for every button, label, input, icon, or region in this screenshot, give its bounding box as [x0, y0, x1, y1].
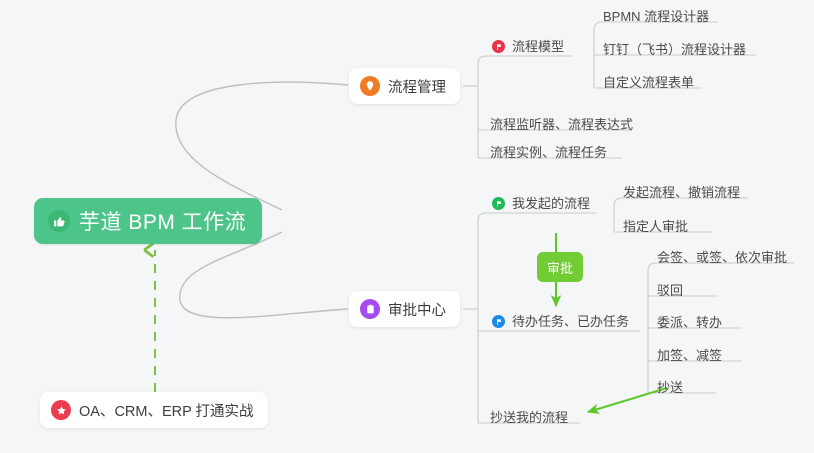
node-label: 流程实例、流程任务 — [490, 146, 607, 159]
node-bpmn-designer[interactable]: BPMN 流程设计器 — [601, 0, 716, 26]
node-cc-to-me-process[interactable]: 抄送我的流程 — [488, 400, 575, 427]
node-delegate-transfer[interactable]: 委派、转办 — [655, 305, 729, 332]
branch-label: 审批中心 — [388, 299, 446, 320]
node-process-model[interactable]: 流程模型 — [490, 29, 571, 56]
node-label: 抄送我的流程 — [490, 411, 568, 424]
node-label: 待办任务、已办任务 — [512, 315, 629, 328]
clipboard-icon — [360, 299, 380, 319]
node-label: 发起流程、撤销流程 — [623, 186, 740, 199]
node-label: 委派、转办 — [657, 316, 722, 329]
node-label: 钉钉（飞书）流程设计器 — [603, 43, 746, 56]
node-process-instance-task[interactable]: 流程实例、流程任务 — [488, 135, 614, 162]
node-label: 加签、减签 — [657, 349, 722, 362]
node-label: 会签、或签、依次审批 — [657, 251, 787, 264]
node-add-remove-sign[interactable]: 加签、减签 — [655, 338, 729, 365]
node-label: 流程监听器、流程表达式 — [490, 118, 633, 131]
footnote-node[interactable]: OA、CRM、ERP 打通实战 — [40, 392, 268, 428]
node-designated-approver[interactable]: 指定人审批 — [621, 209, 695, 236]
branch-node-approval-center[interactable]: 审批中心 — [349, 291, 460, 327]
flag-icon — [492, 197, 505, 210]
mindmap-canvas: 芋道 BPM 工作流 流程管理 流程模型 BPMN 流程设计器 钉钉（飞书）流程… — [0, 0, 814, 453]
flag-icon — [492, 315, 505, 328]
link-pm-spine — [478, 56, 486, 158]
node-cc[interactable]: 抄送 — [655, 370, 690, 397]
link-root-to-approval-center — [180, 232, 348, 318]
branch-label: 流程管理 — [388, 76, 446, 97]
node-label: 流程模型 — [512, 40, 564, 53]
node-start-cancel-process[interactable]: 发起流程、撤销流程 — [621, 175, 747, 202]
node-label: 抄送 — [657, 381, 683, 394]
root-label: 芋道 BPM 工作流 — [79, 206, 246, 236]
node-label: 指定人审批 — [623, 220, 688, 233]
flag-icon — [492, 40, 505, 53]
node-countersign-orsign-sequential[interactable]: 会签、或签、依次审批 — [655, 240, 794, 267]
node-reject[interactable]: 驳回 — [655, 273, 690, 300]
node-my-initiated-process[interactable]: 我发起的流程 — [490, 186, 597, 213]
node-label: 我发起的流程 — [512, 197, 590, 210]
location-pin-icon — [360, 76, 380, 96]
node-label: 驳回 — [657, 284, 683, 297]
thumbs-up-icon — [48, 210, 70, 232]
branch-node-process-management[interactable]: 流程管理 — [349, 68, 460, 104]
node-custom-process-form[interactable]: 自定义流程表单 — [601, 65, 701, 92]
root-node[interactable]: 芋道 BPM 工作流 — [34, 198, 262, 244]
node-process-listener-expression[interactable]: 流程监听器、流程表达式 — [488, 107, 640, 134]
link-ac-spine — [478, 213, 486, 423]
link-root-to-process-management — [176, 82, 348, 210]
footnote-label: OA、CRM、ERP 打通实战 — [79, 400, 254, 421]
pill-label: 审批 — [547, 258, 573, 277]
star-icon — [51, 400, 71, 420]
approval-highlight-pill[interactable]: 审批 — [537, 252, 583, 282]
node-dingtalk-feishu-designer[interactable]: 钉钉（飞书）流程设计器 — [601, 32, 753, 59]
node-label: BPMN 流程设计器 — [603, 10, 709, 23]
node-todo-done-tasks[interactable]: 待办任务、已办任务 — [490, 304, 636, 331]
node-label: 自定义流程表单 — [603, 76, 694, 89]
